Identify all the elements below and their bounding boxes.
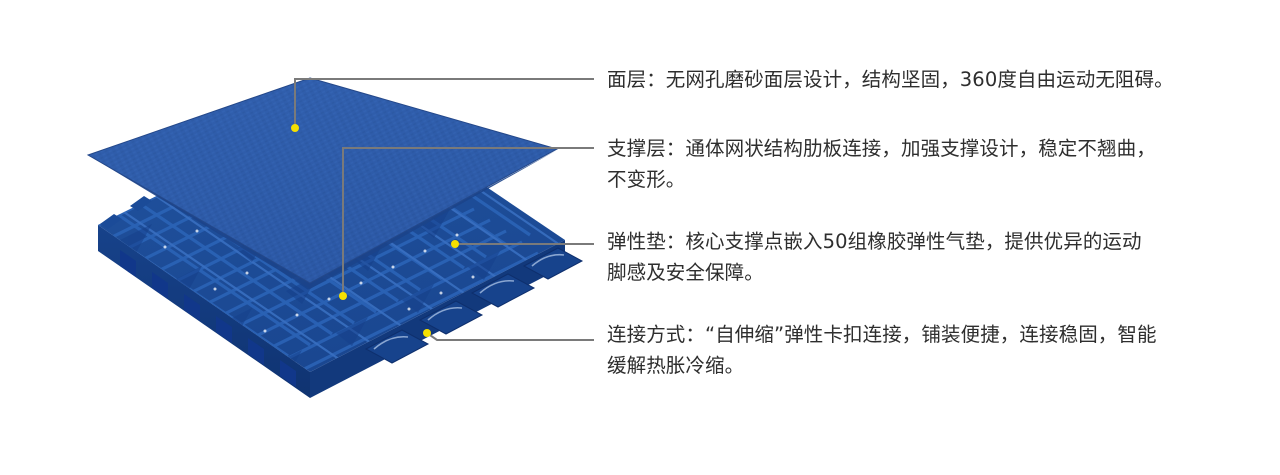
diagram-stage: 面层：无网孔磨砂面层设计，结构坚固，360度自由运动无阻碍。 支撑层：通体网状结… [0,0,1280,475]
callout-text-elastic-pad: 弹性垫：核心支撑点嵌入50组橡胶弹性气垫，提供优异的运动 脚感及安全保障。 [607,226,1235,288]
callout-text-surface: 面层：无网孔磨砂面层设计，结构坚固，360度自由运动无阻碍。 [607,64,1235,95]
callout-text-support: 支撑层：通体网状结构肋板连接，加强支撑设计，稳定不翘曲， 不变形。 [607,133,1235,195]
callout-text-column: 面层：无网孔磨砂面层设计，结构坚固，360度自由运动无阻碍。 支撑层：通体网状结… [0,0,1280,475]
callout-text-connection: 连接方式：“自伸缩”弹性卡扣连接，铺装便捷，连接稳固，智能 缓解热胀冷缩。 [607,319,1235,381]
